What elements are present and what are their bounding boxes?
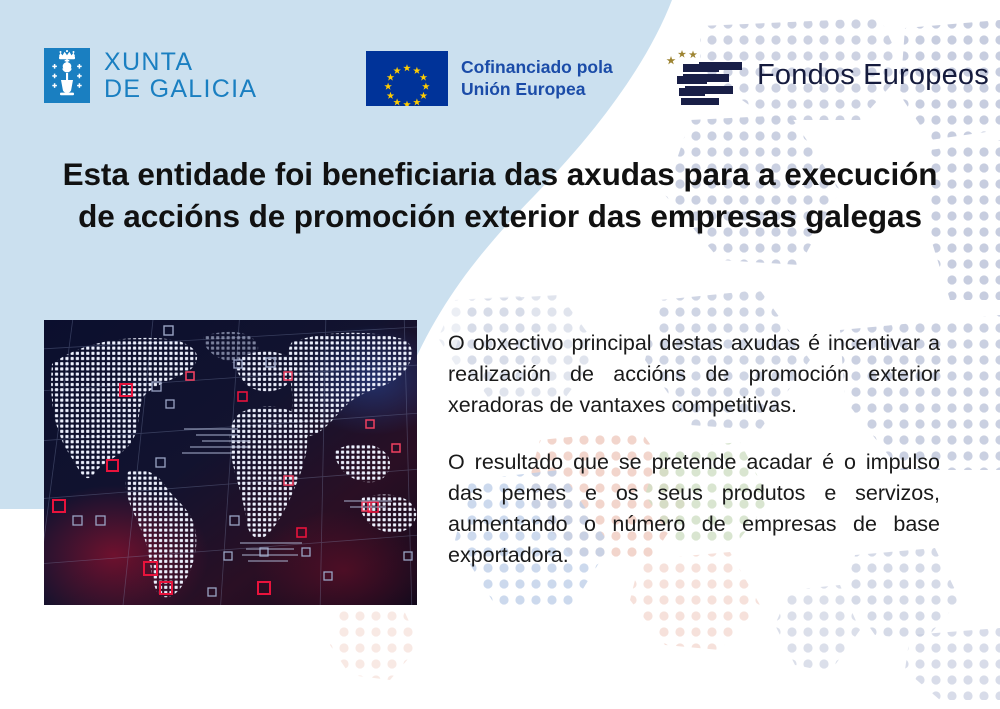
xunta-wordmark: XUNTA DE GALICIA — [104, 49, 257, 103]
eu-text-line1: Cofinanciado pola — [461, 57, 613, 78]
galicia-chalice-crown-icon — [44, 48, 90, 103]
xunta-wordmark-line1: XUNTA — [104, 49, 257, 76]
poster-canvas: XUNTA DE GALICIA — [0, 0, 1000, 709]
fondos-europeos-label: Fondos Europeos — [757, 59, 989, 92]
eu-cofinancing-text: Cofinanciado pola Unión Europea — [461, 57, 613, 100]
fondos-europeos-steps-icon — [657, 42, 745, 108]
logo-xunta-de-galicia: XUNTA DE GALICIA — [44, 48, 257, 103]
logo-fondos-europeos: Fondos Europeos — [657, 42, 989, 108]
eu-text-line2: Unión Europea — [461, 79, 613, 100]
paragraph-result: O resultado que se pretende acadar é o i… — [448, 447, 940, 571]
logo-european-union: Cofinanciado pola Unión Europea — [366, 51, 613, 106]
paragraph-objective: O obxectivo principal destas axudas é in… — [448, 328, 940, 421]
logo-bar: XUNTA DE GALICIA — [0, 0, 1000, 125]
dotted-world-map-network-image — [44, 320, 417, 605]
european-union-flag-icon — [366, 51, 448, 106]
page-title: Esta entidade foi beneficiaria das axuda… — [58, 154, 942, 237]
xunta-wordmark-line2: DE GALICIA — [104, 76, 257, 103]
body-copy: O obxectivo principal destas axudas é in… — [448, 328, 940, 571]
